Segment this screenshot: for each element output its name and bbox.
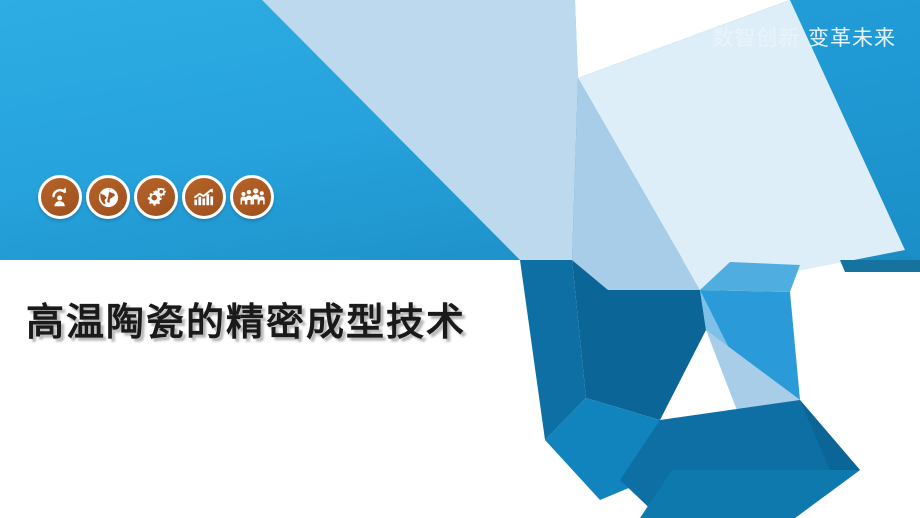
people-group-icon[interactable] <box>230 175 274 219</box>
page-title: 高温陶瓷的精密成型技术 <box>26 291 466 346</box>
globe-icon[interactable] <box>86 175 130 219</box>
refresh-people-icon[interactable] <box>38 175 82 219</box>
gears-icon[interactable] <box>134 175 178 219</box>
band-bottom-sliver <box>840 260 920 272</box>
bar-chart-growth-icon[interactable] <box>182 175 226 219</box>
polygon-artwork <box>0 0 920 518</box>
icon-row <box>38 175 274 219</box>
deep-ramp-lower <box>640 470 860 518</box>
tagline-text: 数智创新 变革未来 <box>712 22 896 52</box>
pale-fan-large <box>262 0 578 260</box>
presentation-slide: 数智创新 变革未来 <box>0 0 920 518</box>
